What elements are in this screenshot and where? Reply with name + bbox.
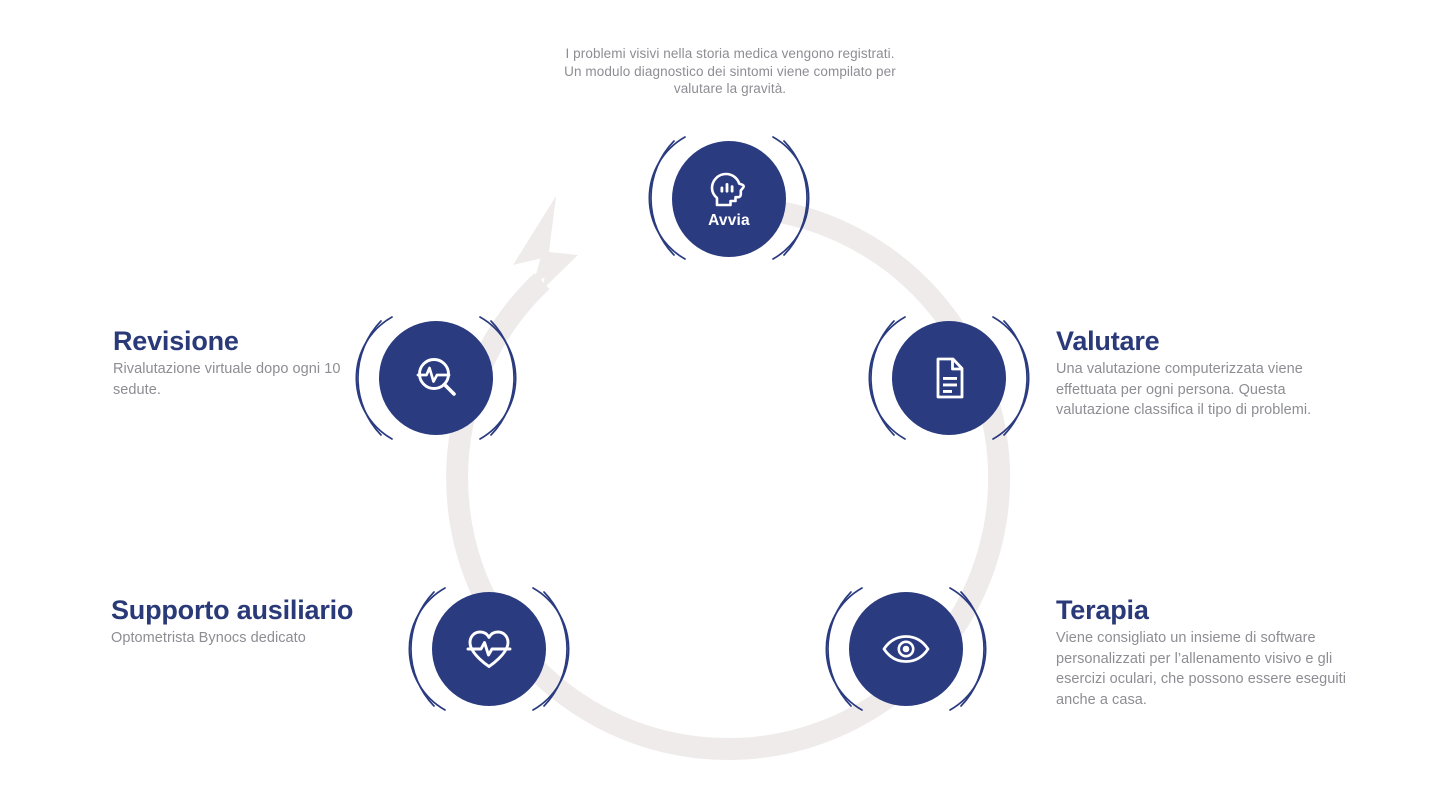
eye-icon [881,634,931,664]
block-assess: Valutare Una valutazione computerizzata … [1056,325,1356,421]
node-start-label: Avvia [708,212,750,230]
top-caption-line-3: valutare la gravità. [520,80,940,98]
node-support[interactable] [404,564,574,734]
top-caption-line-1: I problemi visivi nella storia medica ve… [520,45,940,63]
node-therapy[interactable] [821,564,991,734]
block-therapy-title: Terapia [1056,594,1376,626]
node-therapy-disc[interactable] [849,592,963,706]
node-assess[interactable] [864,293,1034,463]
block-support-body: Optometrista Bynocs dedicato [111,628,411,649]
block-therapy: Terapia Viene consigliato un insieme di … [1056,594,1376,710]
cycle-arrow-head-2 [513,196,578,289]
magnifier-pulse-icon [414,356,458,400]
top-caption-line-2: Un modulo diagnostico dei sintomi viene … [520,63,940,81]
block-review-title: Revisione [113,325,343,357]
head-brain-bars-icon [709,171,749,209]
node-start-disc[interactable]: Avvia [672,141,786,257]
node-support-disc[interactable] [432,592,546,706]
diagram-canvas: I problemi visivi nella storia medica ve… [0,0,1440,808]
block-therapy-body: Viene consigliato un insieme di software… [1056,628,1376,710]
block-support-title: Supporto ausiliario [111,594,411,626]
block-assess-title: Valutare [1056,325,1356,357]
node-review-disc[interactable] [379,321,493,435]
block-review-body: Rivalutazione virtuale dopo ogni 10 sedu… [113,359,343,400]
node-assess-disc[interactable] [892,321,1006,435]
document-lines-icon [930,356,968,400]
node-start[interactable]: Avvia [644,113,814,283]
cycle-arrow-head [521,196,568,285]
block-support: Supporto ausiliario Optometrista Bynocs … [111,594,411,649]
node-review[interactable] [351,293,521,463]
heart-pulse-icon [466,628,512,670]
block-review: Revisione Rivalutazione virtuale dopo og… [113,325,343,400]
block-assess-body: Una valutazione computerizzata viene eff… [1056,359,1356,421]
top-caption: I problemi visivi nella storia medica ve… [520,45,940,98]
